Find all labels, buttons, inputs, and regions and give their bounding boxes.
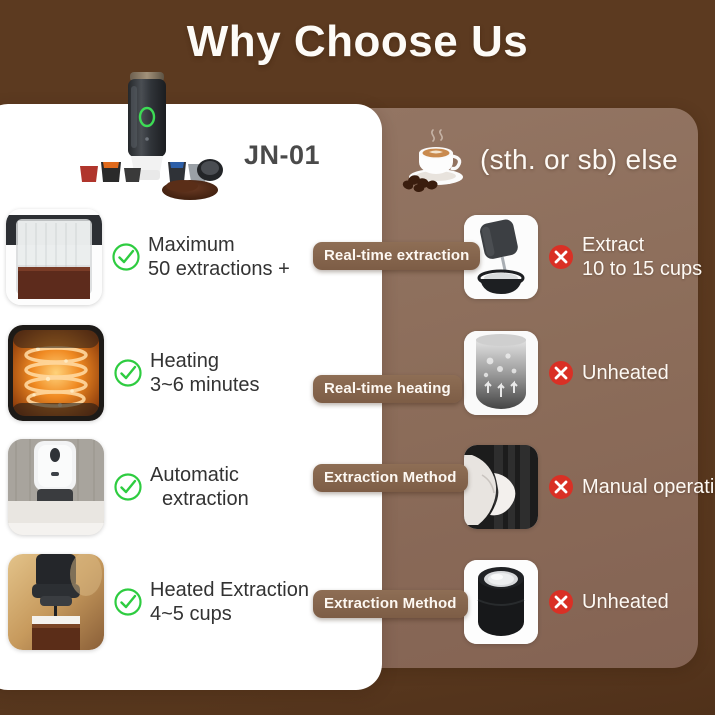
comparison-row: Automatic extraction Extraction Method (0, 437, 715, 537)
row-product-text: Heating 3~6 minutes (150, 349, 260, 398)
row-product-side: Maximum 50 extractions + (6, 207, 290, 307)
page-title: Why Choose Us (0, 14, 715, 69)
row-product-image (8, 439, 104, 535)
row-badge: Extraction Method (313, 464, 468, 492)
cross-circle-icon (547, 473, 575, 501)
row-product-image (8, 554, 104, 650)
product-header: JN-01 (0, 104, 382, 204)
row-competitor-text: Manual operation (582, 475, 715, 499)
cross-circle-icon (547, 243, 575, 271)
comparison-row: Maximum 50 extractions + Real-time extra… (0, 207, 715, 307)
cross-circle-icon (547, 359, 575, 387)
check-circle-icon (113, 587, 143, 617)
cross-circle-icon (547, 588, 575, 616)
product-model-label: JN-01 (244, 140, 320, 171)
row-badge: Extraction Method (313, 590, 468, 618)
comparison-row: Heated Extraction 4~5 cups Extraction Me… (0, 552, 715, 652)
row-competitor-side: Unheated (464, 552, 669, 652)
check-circle-icon (111, 242, 141, 272)
row-badge: Real-time extraction (313, 242, 480, 270)
row-competitor-text: Unheated (582, 361, 669, 385)
row-product-text: Automatic extraction (150, 463, 249, 512)
row-competitor-text: Extract 10 to 15 cups (582, 233, 702, 282)
row-product-text: Heated Extraction 4~5 cups (150, 578, 309, 627)
row-product-text: Maximum 50 extractions + (148, 233, 290, 282)
row-product-side: Heated Extraction 4~5 cups (8, 552, 309, 652)
competitor-header: (sth. or sb) else (400, 125, 678, 195)
row-competitor-image (464, 445, 538, 529)
row-competitor-side: Unheated (464, 323, 669, 423)
row-product-image (6, 209, 102, 305)
check-circle-icon (113, 358, 143, 388)
competitor-label: (sth. or sb) else (480, 144, 678, 176)
row-product-image (8, 325, 104, 421)
row-competitor-side: Manual operation (464, 437, 715, 537)
row-competitor-side: Extract 10 to 15 cups (464, 207, 702, 307)
comparison-row: Heating 3~6 minutes Real-time heating (0, 323, 715, 423)
competitor-hero-image (400, 128, 476, 192)
row-competitor-text: Unheated (582, 590, 669, 614)
product-hero-image (70, 66, 240, 206)
row-badge: Real-time heating (313, 375, 462, 403)
check-circle-icon (113, 472, 143, 502)
row-product-side: Heating 3~6 minutes (8, 323, 260, 423)
row-product-side: Automatic extraction (8, 437, 249, 537)
row-competitor-image (464, 331, 538, 415)
row-competitor-image (464, 560, 538, 644)
